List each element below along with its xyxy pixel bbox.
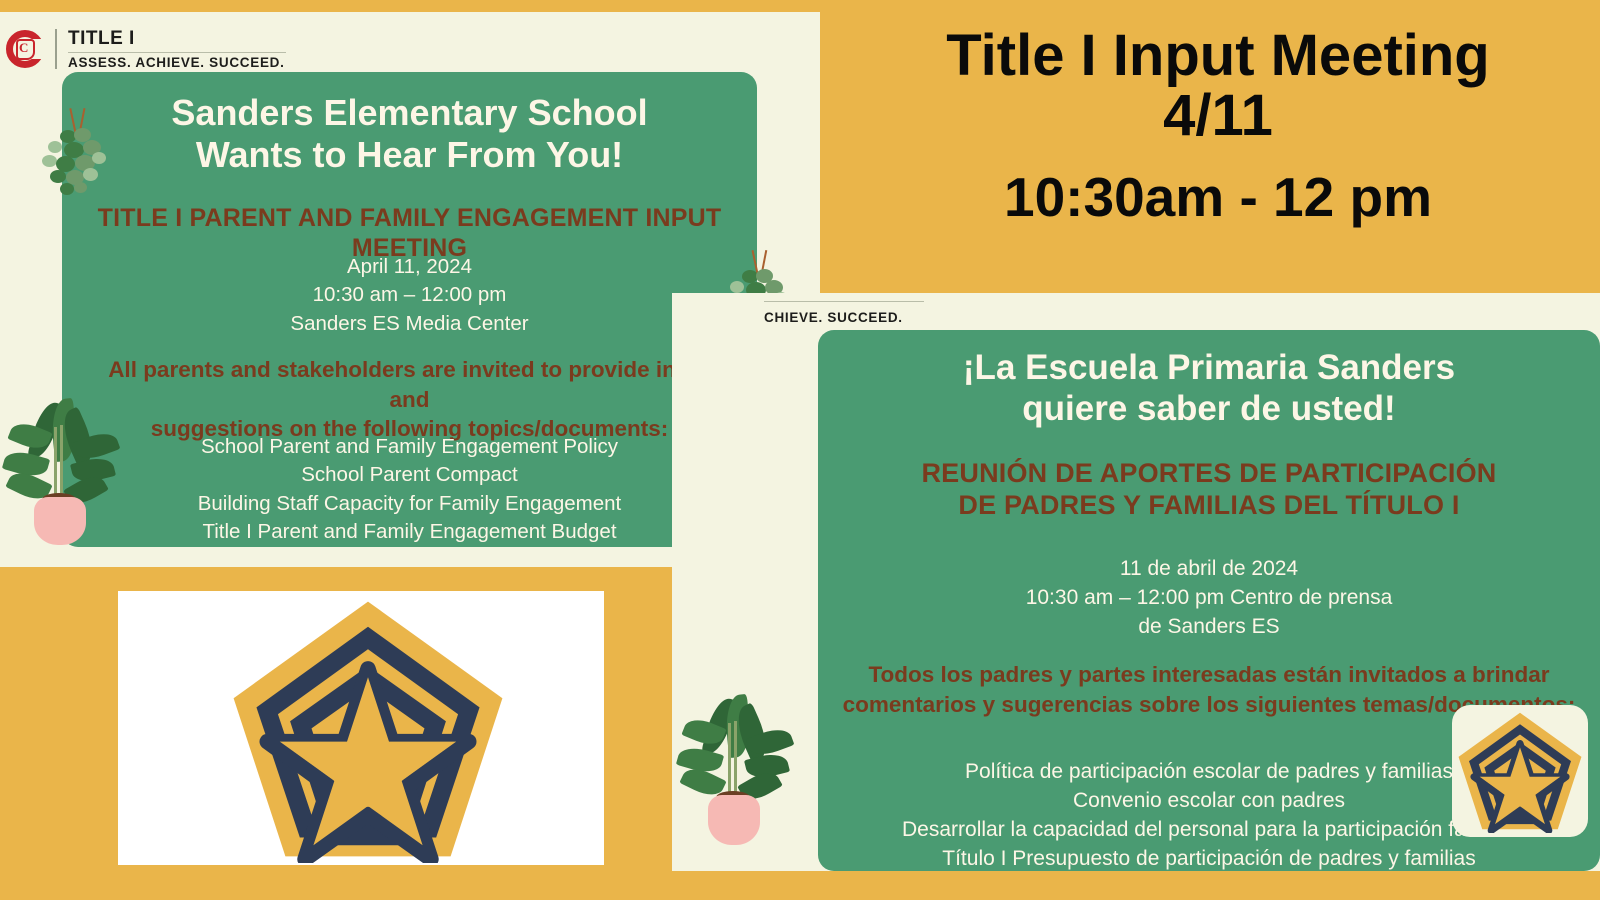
english-invitation-line1: All parents and stakeholders are invited… [102, 355, 717, 414]
spanish-time: 10:30 am – 12:00 pm Centro de prensa [818, 584, 1600, 613]
potted-plant-icon [4, 397, 134, 547]
gold-header-panel: Title I Input Meeting 4/11 10:30am - 12 … [836, 12, 1600, 293]
spanish-subtitle-line1: REUNIÓN DE APORTES DE PARTICIPACIÓN [818, 458, 1600, 490]
logo-subtitle: ASSESS. ACHIEVE. SUCCEED. [68, 55, 286, 70]
title-one-logo-lockup-partial: CHIEVE. SUCCEED. [764, 293, 924, 325]
english-location: Sanders ES Media Center [62, 310, 757, 338]
english-date: April 11, 2024 [62, 253, 757, 281]
english-headline: Sanders Elementary School Wants to Hear … [62, 92, 757, 176]
title-one-c-logo-icon: C [6, 30, 44, 68]
english-topic-item: Building Staff Capacity for Family Engag… [62, 490, 757, 518]
header-title: Title I Input Meeting [946, 26, 1489, 86]
spanish-date: 11 de abril de 2024 [818, 555, 1600, 584]
spanish-invitation-line1: Todos los padres y partes interesadas es… [838, 660, 1580, 690]
hanging-plant-icon [34, 108, 118, 204]
logo-divider [55, 29, 57, 69]
english-headline-line2: Wants to Hear From You! [62, 134, 757, 176]
english-topic-item: School Parent and Family Engagement Poli… [62, 433, 757, 461]
english-topic-item: Title I Parent and Family Engagement Bud… [62, 518, 757, 546]
english-invitation: All parents and stakeholders are invited… [102, 355, 717, 444]
pentagon-star-emblem [228, 595, 508, 863]
header-time: 10:30am - 12 pm [1004, 169, 1432, 226]
logo-title: TITLE I [68, 28, 286, 50]
english-green-card: Sanders Elementary School Wants to Hear … [62, 72, 757, 547]
flyer-spanish: CHIEVE. SUCCEED. ¡La Escuela Primaria Sa… [672, 293, 1600, 871]
spanish-when-where: 11 de abril de 2024 10:30 am – 12:00 pm … [818, 555, 1600, 642]
spanish-headline-line1: ¡La Escuela Primaria Sanders [818, 348, 1600, 389]
spanish-meeting-subtitle: REUNIÓN DE APORTES DE PARTICIPACIÓN DE P… [818, 458, 1600, 522]
english-topic-item: School Parent Compact [62, 461, 757, 489]
spanish-headline-line2: quiere saber de usted! [818, 389, 1600, 430]
logo-rule [68, 52, 286, 53]
pentagon-star-emblem [1456, 709, 1584, 833]
english-when-where: April 11, 2024 10:30 am – 12:00 pm Sande… [62, 253, 757, 338]
english-topic-list: School Parent and Family Engagement Poli… [62, 433, 757, 546]
logo-subtitle-partial: CHIEVE. SUCCEED. [764, 310, 924, 325]
title-one-logo-lockup: C TITLE I ASSESS. ACHIEVE. SUCCEED. [6, 28, 286, 70]
spanish-topic-item: Título I Presupuesto de participación de… [818, 845, 1600, 871]
logo-rule [764, 301, 924, 302]
emblem-white-box [118, 591, 604, 865]
spanish-headline: ¡La Escuela Primaria Sanders quiere sabe… [818, 348, 1600, 429]
potted-plant-icon [678, 693, 808, 853]
pentagon-star-emblem-partial [794, 414, 854, 534]
spanish-location: de Sanders ES [818, 613, 1600, 642]
header-date: 4/11 [1163, 86, 1273, 146]
slide-canvas: C TITLE I ASSESS. ACHIEVE. SUCCEED. Sand… [0, 0, 1600, 900]
english-time: 10:30 am – 12:00 pm [62, 281, 757, 309]
logo-letter: C [19, 41, 28, 54]
spanish-subtitle-line2: DE PADRES Y FAMILIAS DEL TÍTULO I [818, 490, 1600, 522]
english-headline-line1: Sanders Elementary School [62, 92, 757, 134]
